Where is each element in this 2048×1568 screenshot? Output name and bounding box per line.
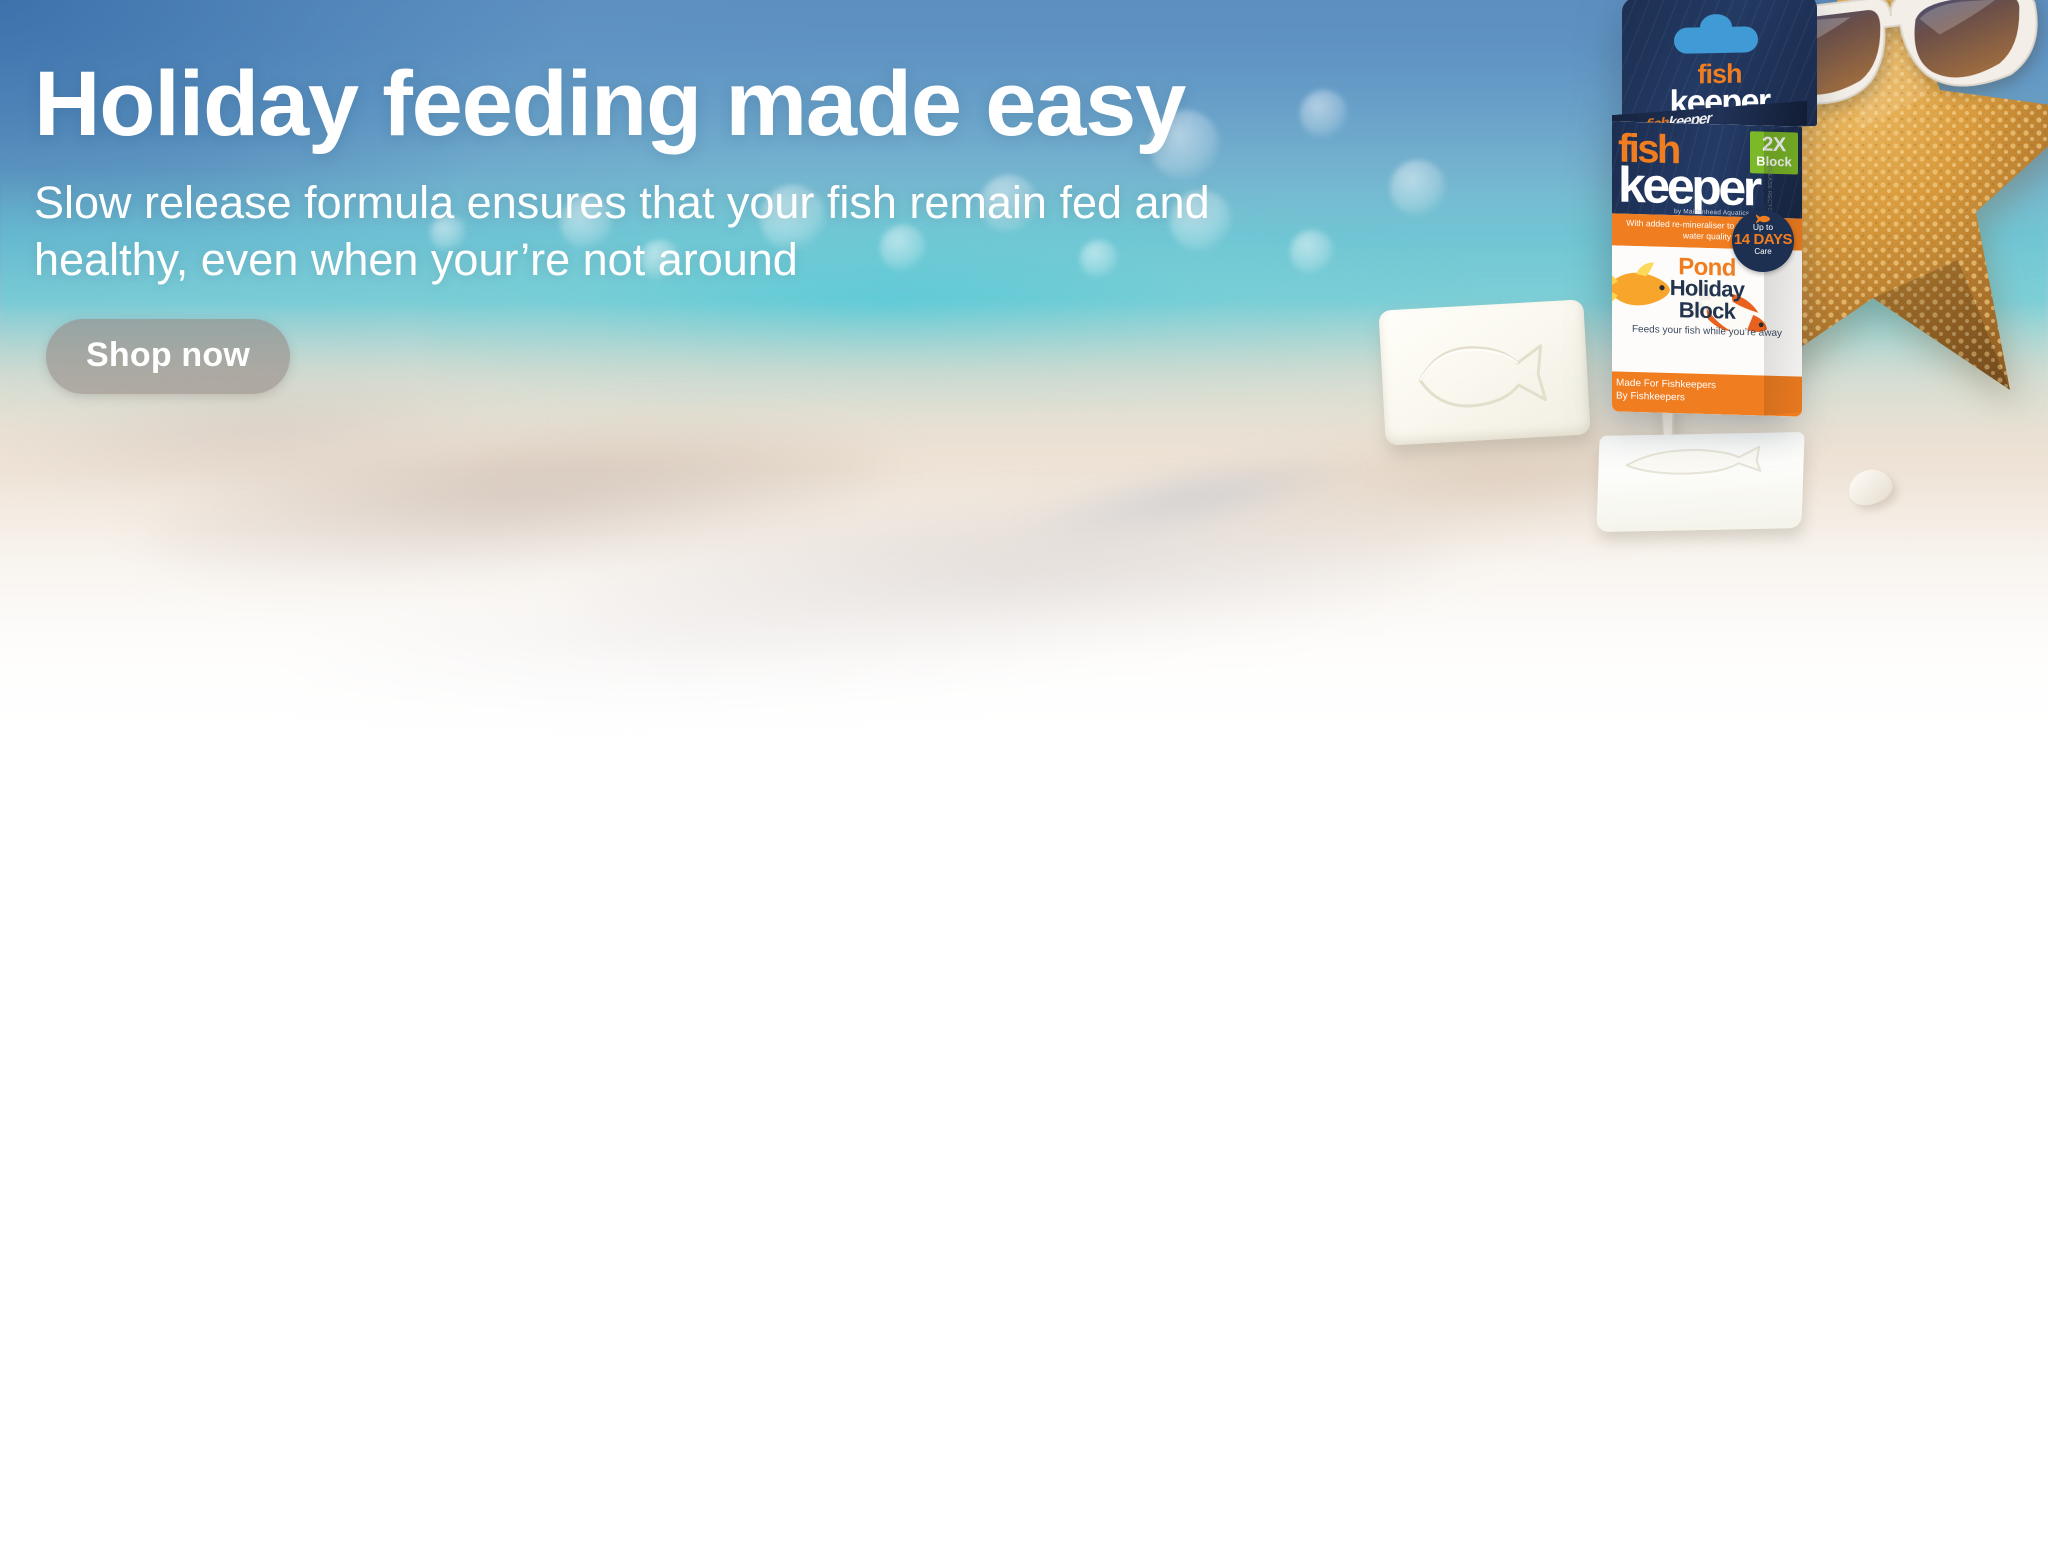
pack-brand-keeper: keeper bbox=[1618, 163, 1759, 211]
pack-logo: fish keeper by Maidenhead Aquatics bbox=[1618, 132, 1759, 218]
page-body-empty bbox=[0, 800, 2048, 1568]
carton-navy-header: fish keeper by Maidenhead Aquatics 2X Bl… bbox=[1612, 121, 1802, 218]
pack-title-block: Block bbox=[1612, 297, 1802, 324]
shell-icon bbox=[1844, 464, 1896, 510]
badge-care: Care bbox=[1732, 248, 1794, 256]
badge-unit: Block bbox=[1750, 155, 1798, 170]
banner-subheadline: Slow release formula ensures that your f… bbox=[34, 174, 1334, 289]
badge-count: 2X bbox=[1750, 134, 1798, 156]
pack-footer-band: Made For Fishkeepers By Fishkeepers bbox=[1612, 371, 1802, 416]
badge-days-value: 14 DAYS bbox=[1732, 232, 1794, 249]
days-care-badge: Up to 14 DAYS Care bbox=[1732, 210, 1794, 272]
badge-2x-block: 2X Block bbox=[1750, 131, 1798, 174]
page-root: fish keeper by Maidenhead Aquatics fishk… bbox=[0, 0, 2048, 1568]
holiday-block-back bbox=[1596, 432, 1804, 532]
hero-banner: fish keeper by Maidenhead Aquatics fishk… bbox=[0, 0, 2048, 800]
page-title: Holiday feeding made easy bbox=[34, 58, 1484, 152]
banner-copy: Holiday feeding made easy Slow release f… bbox=[34, 58, 1484, 394]
shop-now-button[interactable]: Shop now bbox=[46, 319, 290, 394]
badge-fish-icon bbox=[1756, 214, 1771, 224]
euro-slot-icon bbox=[1674, 26, 1758, 54]
pack-title-holiday-block: Holiday Block bbox=[1612, 275, 1802, 324]
fish-emboss-icon bbox=[1620, 443, 1771, 480]
product-pack: fish keeper by Maidenhead Aquatics fishk… bbox=[1612, 0, 1817, 426]
